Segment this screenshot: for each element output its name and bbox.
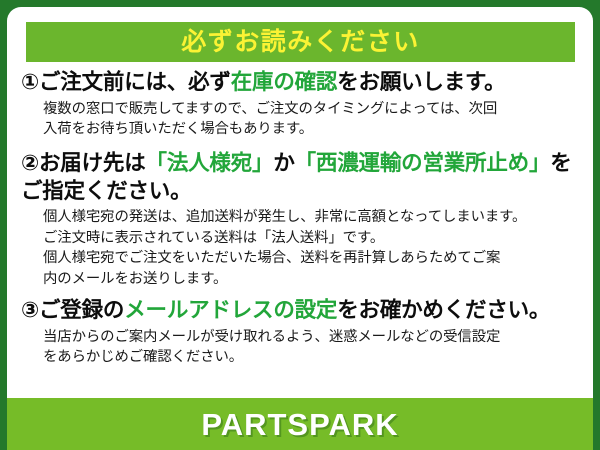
notice-item-1-heading-part-1: 在庫の確認	[231, 70, 338, 94]
notice-item-3-heading: ③ご登録のメールアドレスの設定をお確かめください。	[21, 297, 581, 325]
notice-item-1-detail: 複数の窓口で販売してますので、ご注文のタイミングによっては、次回 入荷をお待ち頂…	[21, 99, 581, 140]
notice-item-2: ②お届け先は「法人様宛」か「西濃運輸の営業所止め」をご指定ください。 個人様宅宛…	[21, 150, 581, 289]
notice-item-1-heading-part-2: をお願いします。	[337, 70, 505, 94]
notice-item-2-heading-part-3: 「西濃運輸の営業所止め」	[295, 151, 551, 175]
notice-item-3-heading-part-2: をお確かめください。	[337, 298, 550, 322]
notice-panel: 必ずお読みください ①ご注文前には、必ず在庫の確認をお願いします。 複数の窓口で…	[7, 7, 593, 450]
notice-item-3-heading-part-1: メールアドレスの設定	[124, 298, 337, 322]
notice-item-3-heading-part-0: ③ご登録の	[21, 298, 124, 322]
header-banner: 必ずお読みください	[26, 22, 575, 62]
notice-item-2-heading-part-1: 「法人様宛」	[146, 151, 274, 175]
notice-item-3: ③ご登録のメールアドレスの設定をお確かめください。 当店からのご案内メールが受け…	[21, 297, 581, 367]
notice-outer-frame: 必ずお読みください ①ご注文前には、必ず在庫の確認をお願いします。 複数の窓口で…	[0, 0, 600, 450]
page-title: 必ずお読みください	[181, 30, 420, 55]
notice-item-2-heading: ②お届け先は「法人様宛」か「西濃運輸の営業所止め」をご指定ください。	[21, 150, 581, 205]
notice-item-1: ①ご注文前には、必ず在庫の確認をお願いします。 複数の窓口で販売してますので、ご…	[21, 69, 581, 139]
notice-item-1-heading: ①ご注文前には、必ず在庫の確認をお願いします。	[21, 69, 581, 97]
notice-item-1-heading-part-0: ①ご注文前には、必ず	[21, 70, 231, 94]
notice-item-2-heading-part-2: か	[273, 151, 294, 175]
notice-item-2-heading-part-0: ②お届け先は	[21, 151, 146, 175]
brand-logo: PARTSPARK	[201, 409, 398, 440]
notice-item-3-detail: 当店からのご案内メールが受け取れるよう、迷惑メールなどの受信設定 をあらかじめご…	[21, 327, 581, 368]
footer-bar: PARTSPARK	[7, 398, 593, 450]
notice-item-2-detail: 個人様宅宛の発送は、追加送料が発生し、非常に高額となってしまいます。 ご注文時に…	[21, 207, 581, 289]
notice-list: ①ご注文前には、必ず在庫の確認をお願いします。 複数の窓口で販売してますので、ご…	[7, 69, 593, 368]
